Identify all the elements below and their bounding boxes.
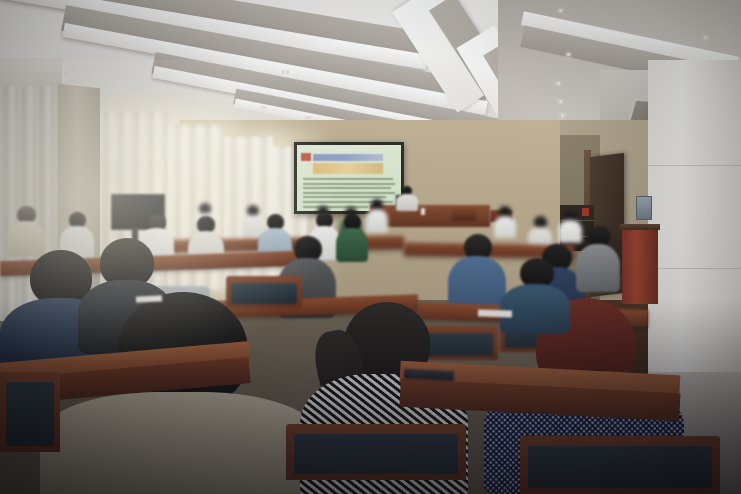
paper-1 bbox=[478, 309, 512, 317]
downlight-9 bbox=[558, 100, 563, 103]
torso bbox=[500, 284, 570, 334]
torso bbox=[366, 209, 388, 233]
slide-red-marker bbox=[301, 153, 310, 161]
downlight-8 bbox=[556, 82, 561, 85]
presenter-chair bbox=[452, 209, 476, 221]
pillar-seam-1 bbox=[648, 165, 741, 166]
attendee-mid-green bbox=[336, 214, 368, 260]
torso bbox=[576, 244, 620, 292]
slide-text-line bbox=[303, 183, 395, 185]
chair-pad bbox=[528, 446, 712, 488]
audience-chair-front-3[interactable] bbox=[0, 372, 60, 452]
audience-chair-front-1[interactable] bbox=[286, 424, 466, 480]
downlight-2 bbox=[282, 70, 289, 74]
presenter bbox=[396, 186, 418, 210]
water-cup bbox=[421, 208, 425, 215]
chair-pad bbox=[294, 434, 458, 474]
attendee-back-5 bbox=[366, 199, 388, 231]
left-wall bbox=[0, 58, 62, 86]
downlight-11 bbox=[703, 36, 708, 39]
slide-text-line bbox=[303, 187, 390, 189]
torso bbox=[40, 392, 320, 494]
attendee-grey-far-right bbox=[576, 226, 620, 288]
red-cabinet bbox=[622, 228, 658, 304]
shelf-red-item bbox=[582, 208, 589, 216]
slide-text-line bbox=[303, 178, 392, 180]
downlight-6 bbox=[558, 9, 563, 12]
audience-chair-front-2[interactable] bbox=[520, 436, 720, 494]
attendee-back-6 bbox=[494, 206, 516, 236]
slide-title-banner bbox=[313, 154, 384, 161]
downlight-7 bbox=[566, 53, 571, 56]
downlight-3 bbox=[197, 94, 202, 97]
cabinet-top bbox=[620, 224, 660, 230]
downlight-10 bbox=[560, 114, 565, 117]
torso bbox=[336, 228, 368, 262]
attendee-mid-cream-left bbox=[8, 206, 44, 254]
slide-text-line bbox=[303, 192, 395, 194]
downlight-4 bbox=[261, 106, 266, 109]
wall-control-panel[interactable] bbox=[636, 196, 652, 220]
downlight-5 bbox=[306, 116, 311, 119]
chair-pad bbox=[6, 382, 54, 446]
pillar-seam-2 bbox=[648, 268, 741, 269]
conference-room-photo bbox=[0, 0, 741, 494]
presenter-torso bbox=[396, 194, 418, 211]
slide-accent-band bbox=[313, 163, 384, 174]
